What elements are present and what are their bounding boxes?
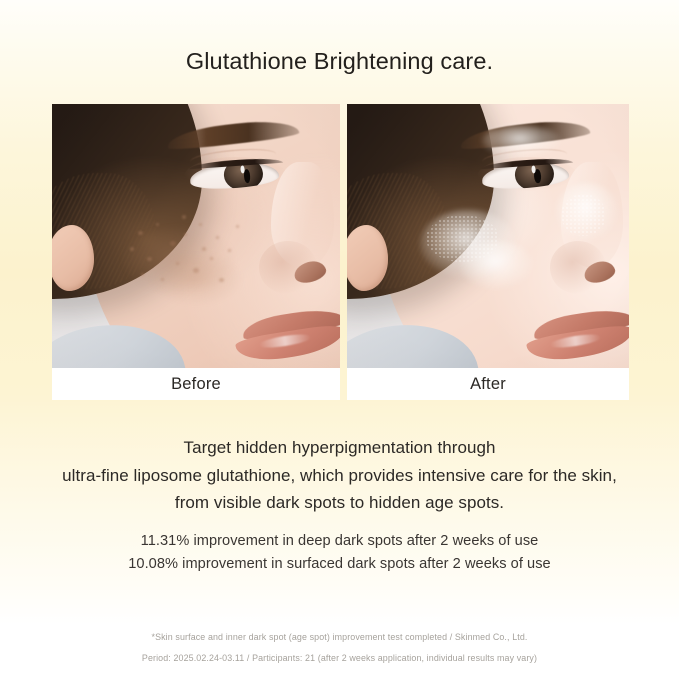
- body-copy-line: Target hidden hyperpigmentation through: [0, 434, 679, 462]
- footnote-line: Period: 2025.02.24-03.11 / Participants:…: [0, 648, 679, 669]
- dark-spot: [199, 223, 202, 226]
- after-caption: After: [470, 375, 506, 394]
- pupil: [534, 170, 541, 184]
- clinical-stats: 11.31% improvement in deep dark spots af…: [0, 530, 679, 575]
- dark-spot: [228, 249, 231, 252]
- after-caption-band: After: [347, 368, 629, 400]
- page-title: Glutathione Brightening care.: [0, 48, 679, 75]
- dark-spot: [138, 231, 143, 235]
- dark-spot: [182, 215, 187, 219]
- stat-line: 10.08% improvement in surfaced dark spot…: [0, 553, 679, 576]
- dark-spot-cluster: [52, 104, 340, 368]
- after-panel: After: [347, 104, 629, 400]
- brow-glow: [482, 125, 561, 157]
- after-photo: [347, 104, 629, 368]
- dark-spot: [193, 268, 199, 273]
- dark-spot: [202, 247, 207, 251]
- footnotes: *Skin surface and inner dark spot (age s…: [0, 627, 679, 669]
- before-caption: Before: [171, 375, 221, 394]
- skin-sheen: [561, 194, 606, 236]
- dark-spot: [219, 278, 224, 282]
- body-copy-line: from visible dark spots to hidden age sp…: [0, 489, 679, 517]
- dark-spot: [156, 223, 159, 226]
- footnote-line: *Skin surface and inner dark spot (age s…: [0, 627, 679, 648]
- before-photo: [52, 104, 340, 368]
- body-copy: Target hidden hyperpigmentation through …: [0, 434, 679, 517]
- body-copy-line: ultra-fine liposome glutathione, which p…: [0, 462, 679, 490]
- dark-spot: [147, 257, 152, 261]
- stat-line: 11.31% improvement in deep dark spots af…: [0, 530, 679, 553]
- face-illustration-before: [52, 104, 340, 368]
- face-illustration-after: [347, 104, 629, 368]
- before-caption-band: Before: [52, 368, 340, 400]
- dark-spot: [130, 247, 135, 251]
- dark-spot: [236, 225, 239, 228]
- advertisement-page: Glutathione Brightening care.: [0, 0, 679, 679]
- before-panel: Before: [52, 104, 340, 400]
